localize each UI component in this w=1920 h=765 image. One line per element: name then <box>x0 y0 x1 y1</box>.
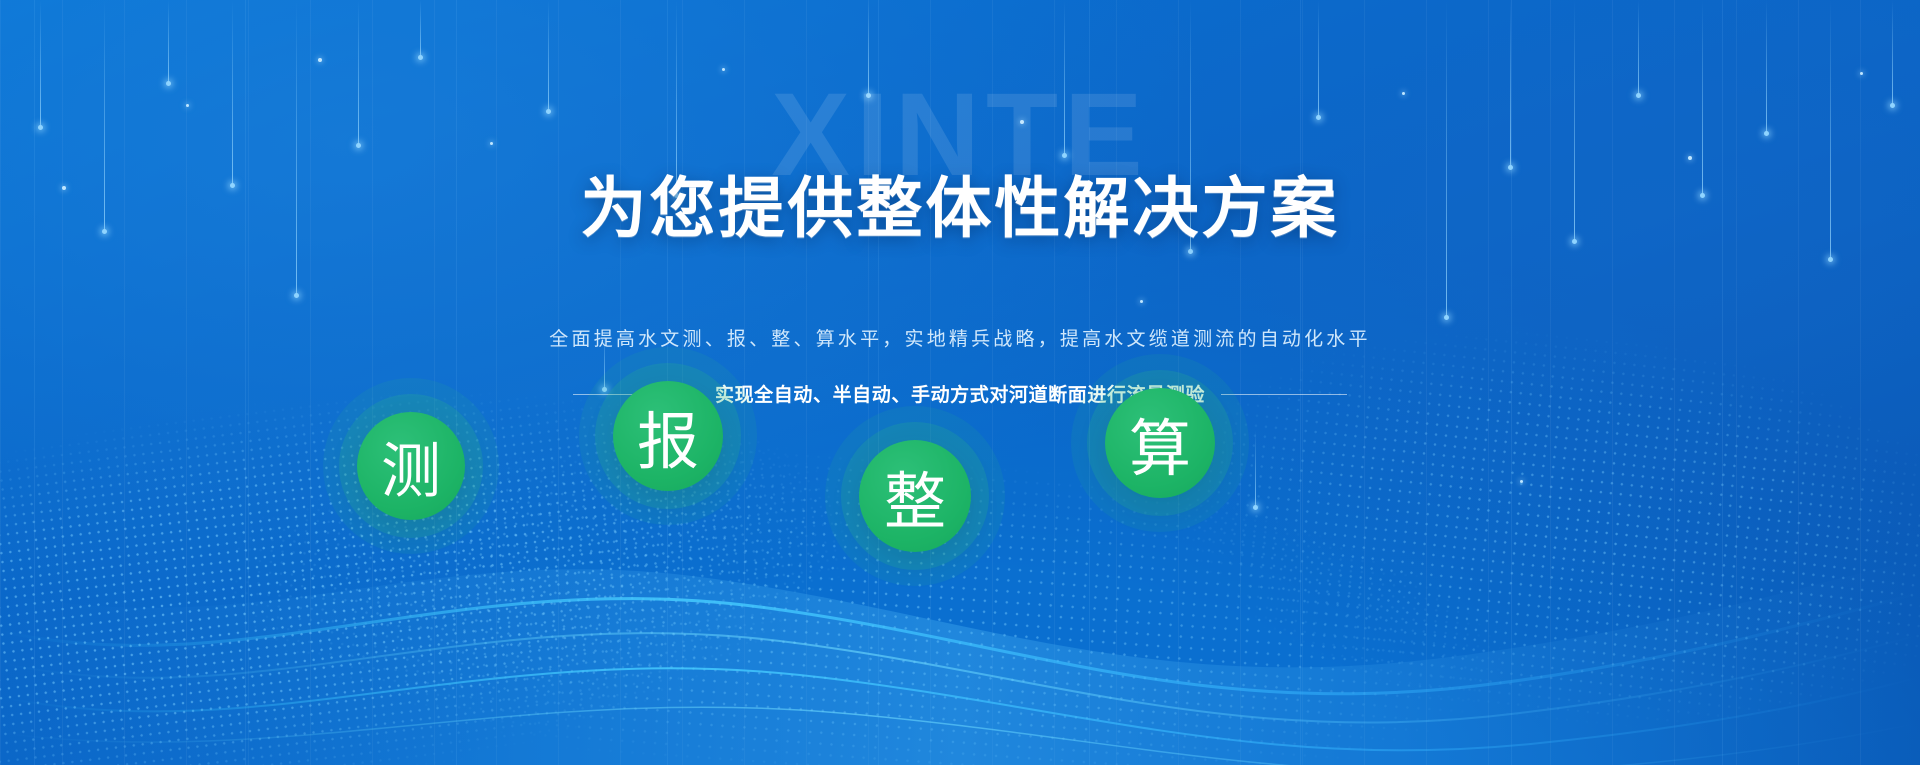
feature-circle-3[interactable]: 整 <box>859 440 971 552</box>
feature-circle-4[interactable]: 算 <box>1105 388 1215 498</box>
hero-banner: XINTE 为您提供整体性解决方案 全面提高水文测、报、整、算水平，实地精兵战略… <box>0 0 1920 765</box>
feature-circle-label: 测 <box>381 423 441 510</box>
feature-circle-label: 整 <box>884 451 946 541</box>
tagline-rule-right <box>1221 394 1347 395</box>
feature-circle-2[interactable]: 报 <box>613 381 723 491</box>
feature-circle-label: 算 <box>1129 398 1191 488</box>
tagline-group: 实现全自动、半自动、手动方式对河道断面进行流量测验 <box>0 372 1920 417</box>
feature-circle-label: 报 <box>637 391 699 481</box>
subtitle-text: 全面提高水文测、报、整、算水平，实地精兵战略，提高水文缆道测流的自动化水平 <box>0 324 1920 351</box>
feature-circle-1[interactable]: 测 <box>357 412 465 520</box>
page-title: 为您提供整体性解决方案 <box>0 174 1920 243</box>
